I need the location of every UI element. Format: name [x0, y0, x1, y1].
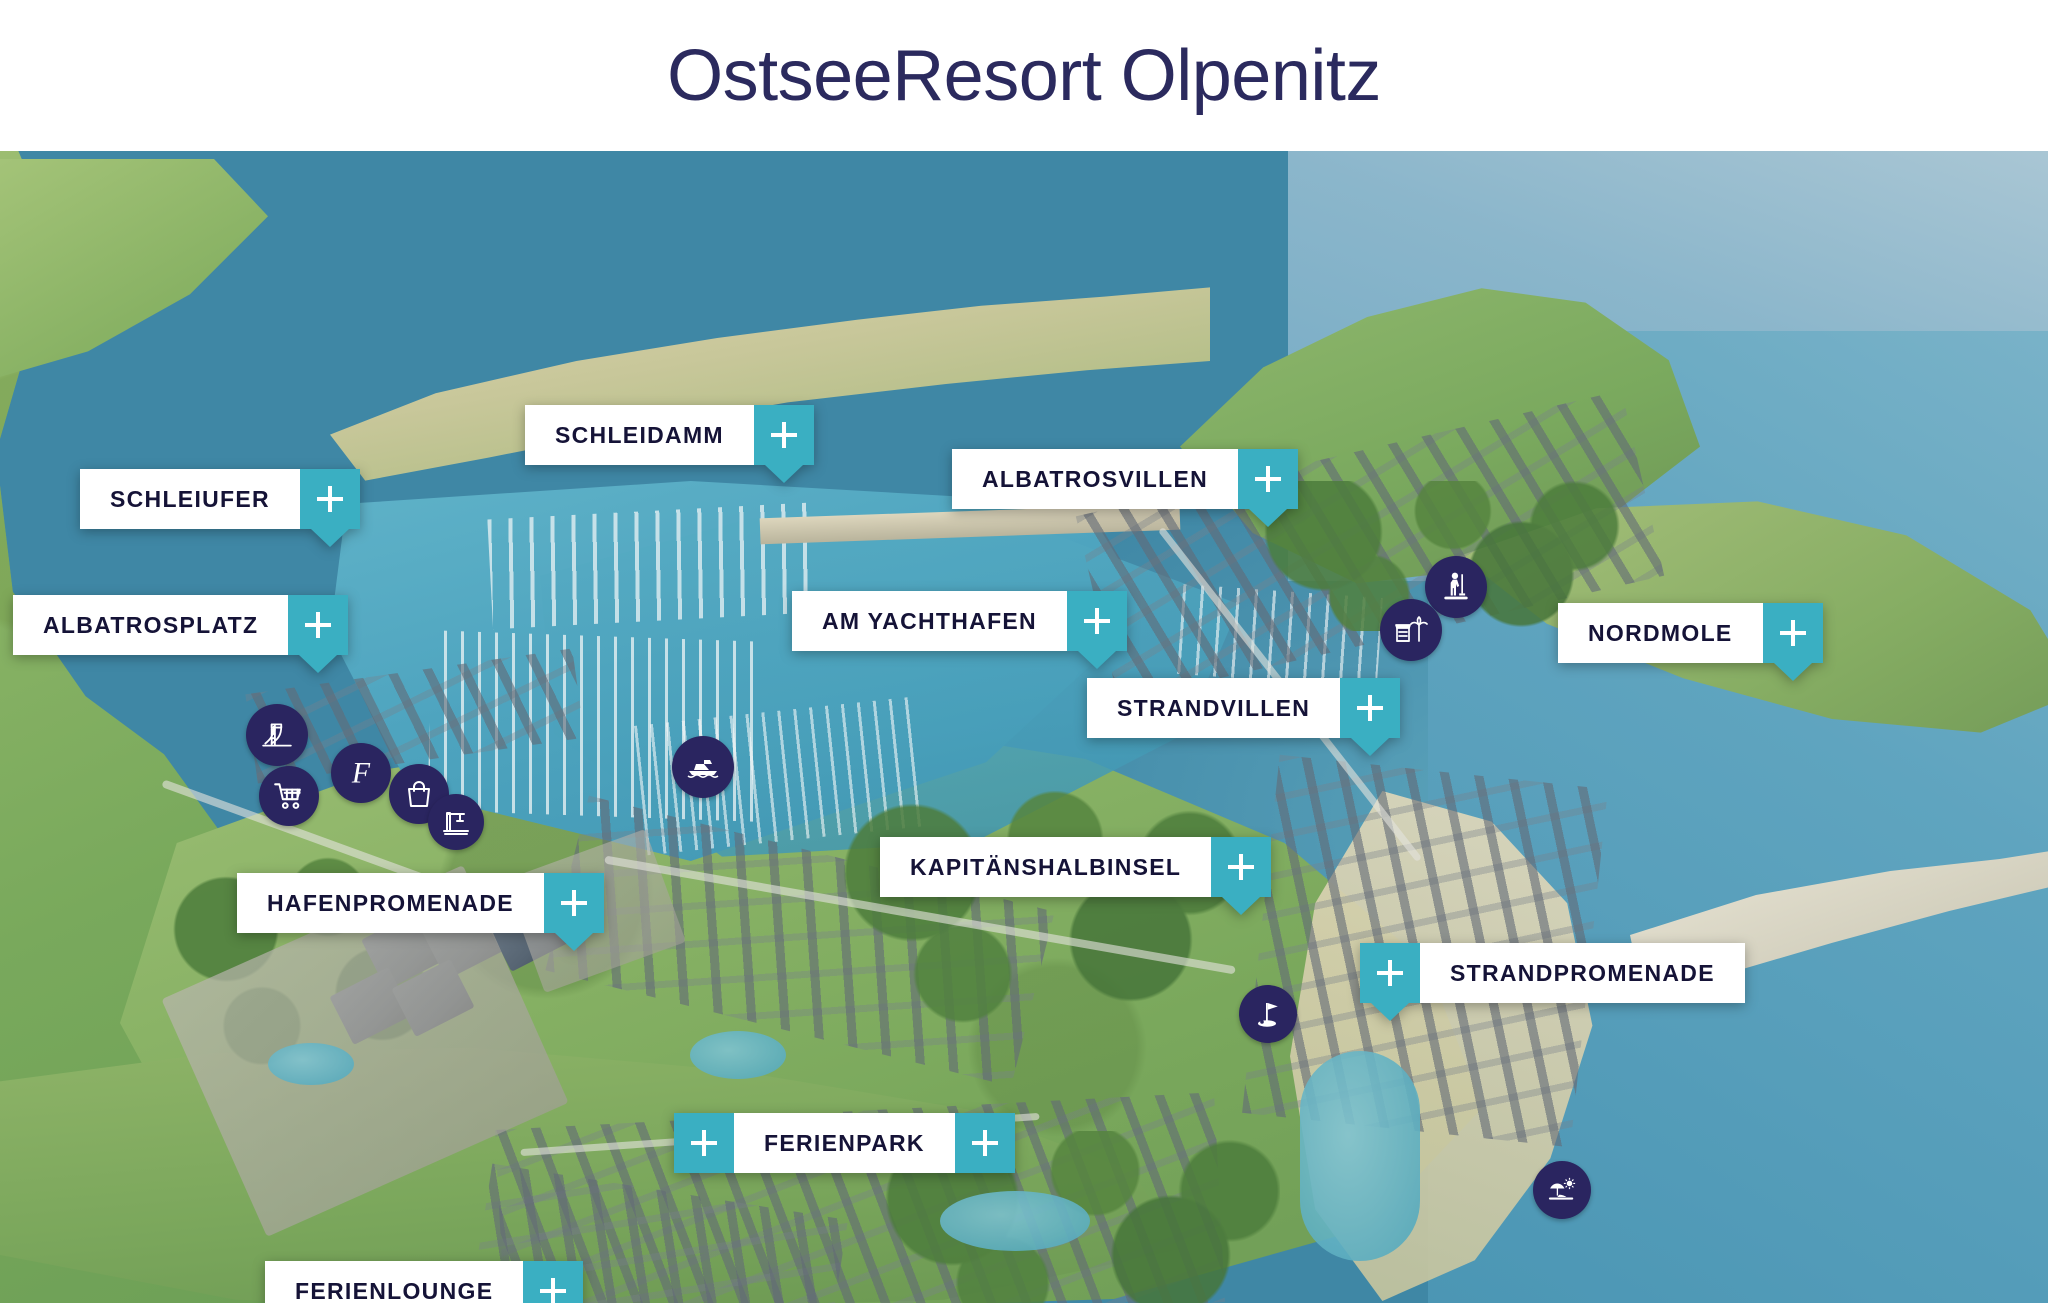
expand-button-hafenpromenade[interactable]: [544, 873, 604, 933]
expand-button-strandpromenade[interactable]: [1360, 943, 1420, 1003]
map-hotspot-nordmole[interactable]: NORDMOLE: [1558, 603, 1823, 663]
map-hotspot-am-yachthafen[interactable]: AM YACHTHAFEN: [792, 591, 1127, 651]
hotspot-label-ferienlounge: FERIENLOUNGE: [265, 1261, 523, 1303]
plus-icon: [1780, 620, 1806, 646]
map-hotspot-ferienpark[interactable]: FERIENPARK: [674, 1113, 1015, 1173]
plus-icon: [972, 1130, 998, 1156]
expand-button-right-ferienpark[interactable]: [955, 1113, 1015, 1173]
expand-button-schleiufer[interactable]: [300, 469, 360, 529]
expand-button-am-yachthafen[interactable]: [1067, 591, 1127, 651]
plus-icon: [771, 422, 797, 448]
hotspot-label-albatrosvillen: ALBATROSVILLEN: [952, 449, 1238, 509]
shopping-cart-icon[interactable]: [259, 766, 319, 826]
map-hotspot-schleidamm[interactable]: SCHLEIDAMM: [525, 405, 814, 465]
map-hotspot-strandvillen[interactable]: STRANDVILLEN: [1087, 678, 1400, 738]
hotspot-label-kapitaenshalbinsel: KAPITÄNSHALBINSEL: [880, 837, 1211, 897]
hotspot-label-albatrosplatz: ALBATROSPLATZ: [13, 595, 288, 655]
map-hotspot-strandpromenade[interactable]: STRANDPROMENADE: [1360, 943, 1745, 1003]
plus-icon: [1255, 466, 1281, 492]
beach-market-icon[interactable]: [1380, 599, 1442, 661]
plus-icon: [1228, 854, 1254, 880]
page-header: OstseeResort Olpenitz: [0, 0, 2048, 151]
hotspot-label-hafenpromenade: HAFENPROMENADE: [237, 873, 544, 933]
hotspot-label-am-yachthafen: AM YACHTHAFEN: [792, 591, 1067, 651]
expand-button-albatrosvillen[interactable]: [1238, 449, 1298, 509]
plus-icon: [317, 486, 343, 512]
resort-map-page: OstseeResort Olpenitz: [0, 0, 2048, 1303]
map-hotspot-albatrosplatz[interactable]: ALBATROSPLATZ: [13, 595, 348, 655]
hotspot-label-nordmole: NORDMOLE: [1558, 603, 1763, 663]
map-hotspot-schleiufer[interactable]: SCHLEIUFER: [80, 469, 360, 529]
expand-button-kapitaenshalbinsel[interactable]: [1211, 837, 1271, 897]
expand-button-ferienlounge[interactable]: [523, 1261, 583, 1303]
beach-umbrella-icon[interactable]: [1533, 1161, 1591, 1219]
golf-flag-icon[interactable]: [1239, 985, 1297, 1043]
plus-icon: [561, 890, 587, 916]
motorboat-icon[interactable]: [672, 736, 734, 798]
resort-map[interactable]: F SCHLEIUFERSCHLEIDAMMALBATROSVILLEN: [0, 151, 2048, 1303]
map-hotspot-kapitaenshalbinsel[interactable]: KAPITÄNSHALBINSEL: [880, 837, 1271, 897]
expand-button-strandvillen[interactable]: [1340, 678, 1400, 738]
pond-south: [940, 1191, 1090, 1251]
map-hotspot-hafenpromenade[interactable]: HAFENPROMENADE: [237, 873, 604, 933]
page-title: OstseeResort Olpenitz: [667, 35, 1381, 117]
map-hotspot-albatrosvillen[interactable]: ALBATROSVILLEN: [952, 449, 1298, 509]
plus-icon: [1357, 695, 1383, 721]
map-hotspot-ferienlounge[interactable]: FERIENLOUNGE: [265, 1261, 583, 1303]
plus-icon: [1377, 960, 1403, 986]
expand-button-schleidamm[interactable]: [754, 405, 814, 465]
plus-icon: [540, 1278, 566, 1303]
pond-west: [268, 1043, 354, 1085]
expand-button-nordmole[interactable]: [1763, 603, 1823, 663]
hotspot-label-ferienpark: FERIENPARK: [734, 1113, 955, 1173]
pond-mid: [690, 1031, 786, 1079]
canal-east: [1300, 1051, 1420, 1261]
plus-icon: [691, 1130, 717, 1156]
expand-button-albatrosplatz[interactable]: [288, 595, 348, 655]
plus-icon: [305, 612, 331, 638]
hotspot-label-schleiufer: SCHLEIUFER: [80, 469, 300, 529]
svg-text:F: F: [351, 757, 371, 790]
expand-button-left-ferienpark[interactable]: [674, 1113, 734, 1173]
restaurant-f-icon[interactable]: F: [331, 743, 391, 803]
plus-icon: [1084, 608, 1110, 634]
hotspot-label-strandpromenade: STRANDPROMENADE: [1420, 943, 1745, 1003]
water-slide-icon[interactable]: [246, 704, 308, 766]
crane-icon[interactable]: [428, 794, 484, 850]
hotspot-label-strandvillen: STRANDVILLEN: [1087, 678, 1340, 738]
hotspot-label-schleidamm: SCHLEIDAMM: [525, 405, 754, 465]
